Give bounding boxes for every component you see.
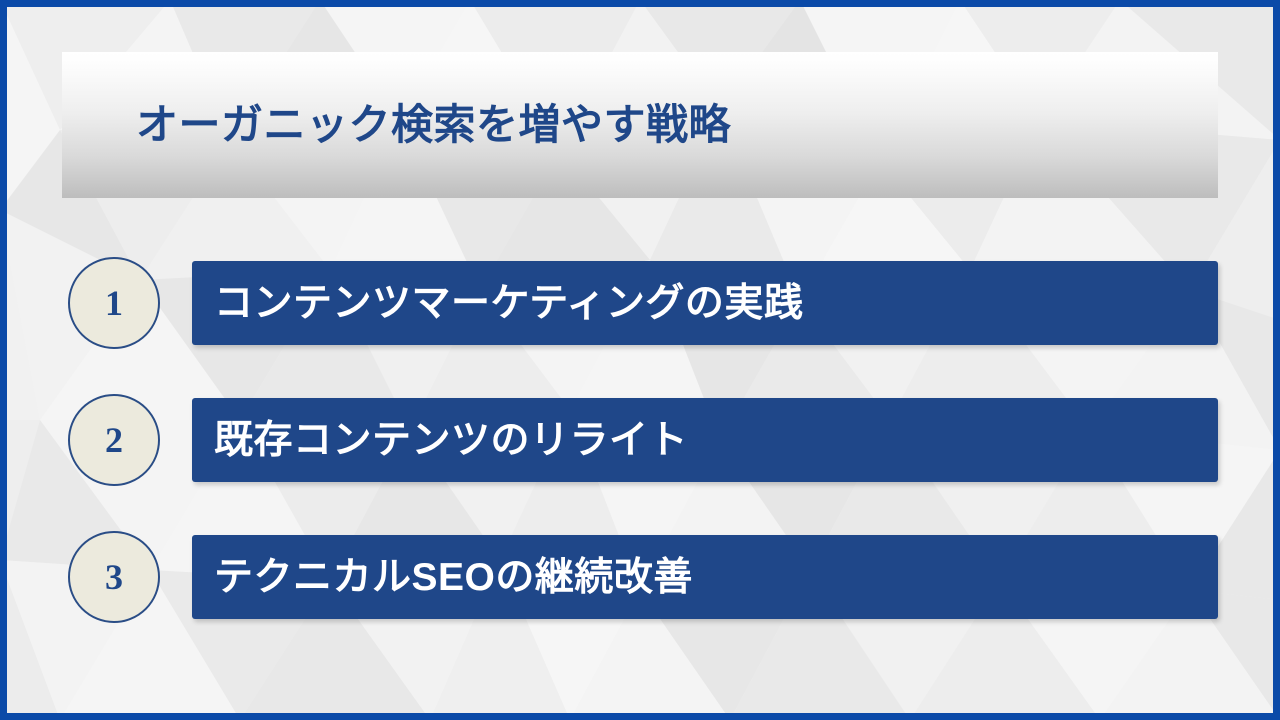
item-bar[interactable]: コンテンツマーケティングの実践	[192, 261, 1218, 345]
list-item[interactable]: 1 コンテンツマーケティングの実践	[0, 261, 1280, 345]
item-number-badge: 1	[68, 257, 160, 349]
list-item[interactable]: 3 テクニカルSEOの継続改善	[0, 535, 1280, 619]
title-banner: オーガニック検索を増やす戦略	[62, 52, 1218, 198]
item-label: テクニカルSEOの継続改善	[192, 558, 693, 597]
page-title: オーガニック検索を増やす戦略	[136, 104, 731, 146]
item-bar[interactable]: 既存コンテンツのリライト	[192, 398, 1218, 482]
item-number-badge: 2	[68, 394, 160, 486]
strategy-list: 1 コンテンツマーケティングの実践 2 既存コンテンツのリライト 3 テクニカル…	[0, 261, 1280, 672]
item-number-badge: 3	[68, 531, 160, 623]
item-label: 既存コンテンツのリライト	[192, 421, 688, 460]
list-item[interactable]: 2 既存コンテンツのリライト	[0, 398, 1280, 482]
item-bar[interactable]: テクニカルSEOの継続改善	[192, 535, 1218, 619]
item-label: コンテンツマーケティングの実践	[192, 284, 803, 323]
slide-canvas: オーガニック検索を増やす戦略 1 コンテンツマーケティングの実践 2 既存コンテ…	[0, 0, 1280, 720]
